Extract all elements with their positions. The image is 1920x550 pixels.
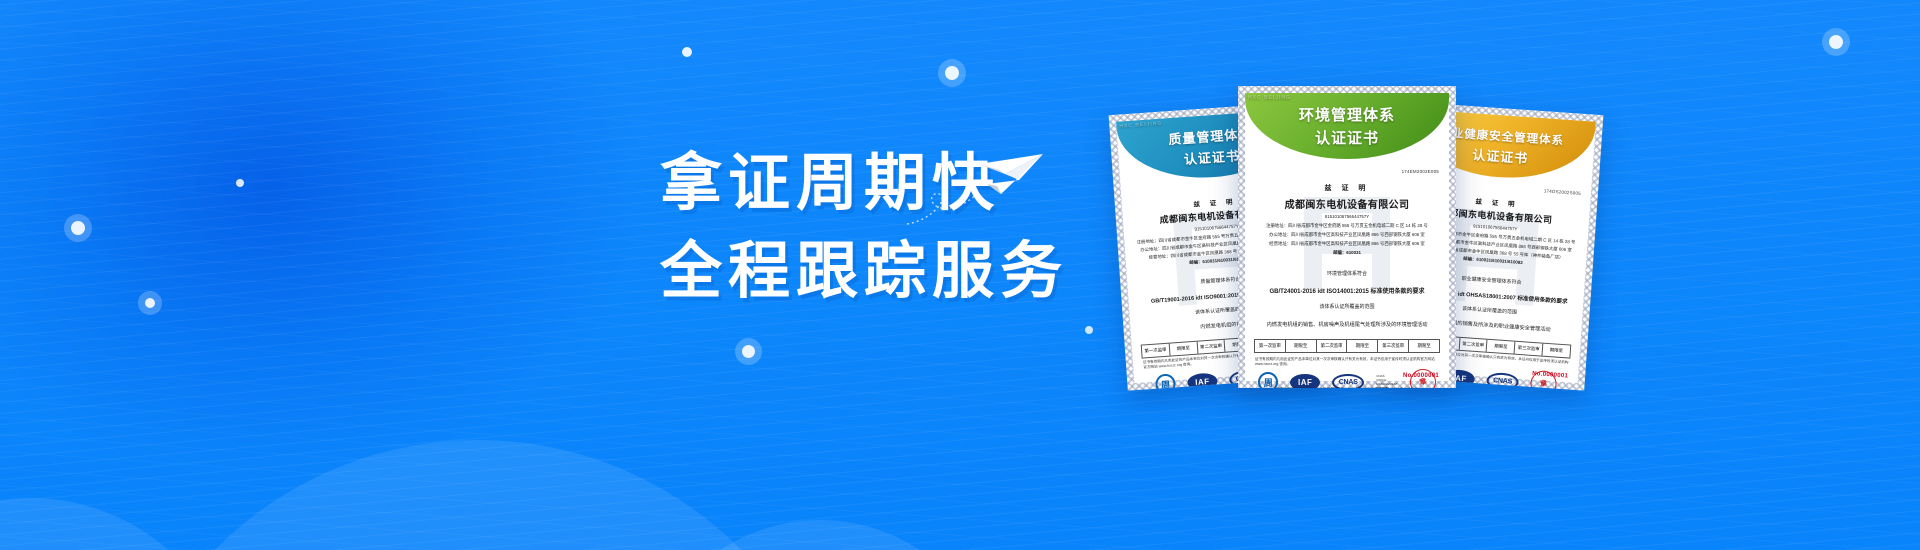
- cert-audit-table: 第一次监审 期限至 第二次监审 期限至 第三次监审 期限至: [1254, 339, 1440, 353]
- dot-bottom-center: [742, 345, 755, 358]
- cert-address-3: 经营地址：四川省成都市金牛区高科技产业区凤凰路 866 号西部钢铁大厦 606 …: [1245, 240, 1449, 248]
- cert-serial: 174EM2002E005: [1245, 169, 1449, 174]
- certificate-group: HXC BEIJING 质量管理体系 认证证书 CT01M2001Z008 兹 …: [1118, 78, 1598, 408]
- audit-cell: 期限至: [1347, 340, 1378, 352]
- cert-address-2: 办公地址：四川省成都市金牛区高科技产业区凤凰路 866 号西部钢铁大厦 606 …: [1245, 231, 1449, 239]
- cert-number: No.0000001: [1403, 373, 1439, 379]
- dot-center-top: [682, 47, 692, 57]
- zhou-logo: 周: [1155, 373, 1176, 390]
- dot-left: [71, 221, 85, 235]
- audit-cell: 第一次监审: [1255, 340, 1286, 352]
- audit-cell: 第三次监审: [1515, 342, 1544, 356]
- dot-center: [945, 66, 959, 80]
- cert-standard: GB/T24001-2016 idt ISO14001:2015 标准使用条款的…: [1245, 286, 1449, 295]
- cert-system-label: 环境管理体系符合: [1245, 270, 1449, 277]
- audit-cell: 第二次监审: [1317, 340, 1348, 352]
- cert-title-line-2: 认证证书: [1472, 144, 1529, 167]
- header-watermark: HXC BEIJING: [1245, 93, 1449, 159]
- cert-proof-label: 兹 证 明: [1245, 183, 1449, 193]
- cert-address-1: 注册地址：四川省成都市金牛区金府路 555 号万贯五金机电城二期 C 区 14 …: [1245, 222, 1449, 230]
- paper-plane-icon: [975, 150, 1045, 198]
- audit-cell: 期限至: [1409, 340, 1439, 352]
- cert-title-line-1: 环境管理体系: [1299, 104, 1395, 125]
- audit-cell: 第三次监审: [1378, 340, 1409, 352]
- audit-cell: 第一次监审: [1142, 344, 1171, 358]
- cert-scope: 内燃发电机组的销售、机房噪声及机组尾气处理所涉及的环境管理活动: [1245, 321, 1449, 328]
- audit-cell: 第二次监审: [1197, 340, 1226, 354]
- cert-title-line-2: 认证证书: [1315, 127, 1379, 148]
- bottom-left-circle-small: [0, 498, 240, 550]
- cert-header-environment: HXC BEIJING 环境管理体系 认证证书: [1245, 93, 1449, 159]
- cert-company: 成都闽东电机设备有限公司: [1245, 196, 1449, 211]
- iaf-logo: IAF: [1187, 372, 1218, 391]
- audit-cell: 期限至: [1170, 342, 1199, 356]
- audit-cell: 期限至: [1543, 344, 1571, 358]
- zhou-logo: 周: [1258, 372, 1278, 388]
- cert-field: HXC BEIJING 环境管理体系 认证证书 174EM2002E005 兹 …: [1245, 93, 1449, 381]
- audit-cell: 第二次监审: [1459, 338, 1488, 352]
- cnas-note: CNASC000-EMANAGEMENTSYSTEM: [1376, 374, 1398, 388]
- cert-scope-label: 该体系认证所覆盖的范围: [1245, 303, 1449, 310]
- promo-banner: 拿证周期快 全程跟踪服务 HXC BEIJING 质量管理体系 认证证书 CT0…: [0, 0, 1920, 550]
- bottom-left-circle-large: [108, 440, 848, 550]
- audit-cell: 期限至: [1487, 340, 1516, 354]
- dot-top-left: [236, 179, 244, 187]
- cert-credit-code: 91510106756644757Y: [1245, 213, 1449, 221]
- headline-line-2: 全程跟踪服务: [660, 228, 1068, 316]
- cert-fineprint: 证书有效期内凡用此证的产品本单位对其一次次审核确认只有关为有效，本证书仅用于宣传…: [1255, 357, 1439, 367]
- dot-lower-left: [145, 298, 155, 308]
- dot-bottom-right: [1085, 326, 1093, 334]
- iaf-logo: IAF: [1290, 374, 1320, 389]
- cnas-logo: CNAS: [1332, 374, 1364, 389]
- cert-title-line-2: 认证证书: [1183, 145, 1240, 168]
- cert-postcode: 邮编：610031: [1245, 249, 1449, 257]
- certificate-environment[interactable]: HXC BEIJING 环境管理体系 认证证书 174EM2002E005 兹 …: [1238, 86, 1456, 388]
- audit-cell: 期限至: [1286, 340, 1317, 352]
- cert-footline: 初次认证日期：2018 年 1 月 8 日 换发证日期：2018 年 1 月 8…: [1253, 387, 1441, 388]
- dot-top-right: [1829, 35, 1843, 49]
- cnas-logo: CNAS: [1486, 371, 1519, 390]
